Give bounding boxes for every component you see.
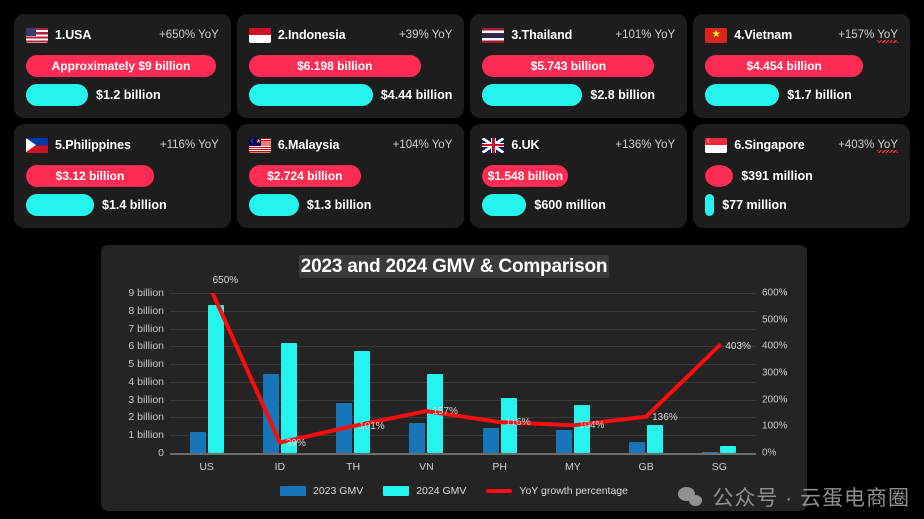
yoy-point-label: 101%	[359, 421, 385, 432]
yoy-point-label: 136%	[652, 412, 678, 423]
flag-vn: ★	[705, 28, 727, 43]
y-axis-tick-left: 7 billion	[94, 323, 164, 335]
gmv-2023-value: $1.2 billion	[96, 88, 161, 102]
legend-item-yoy: YoY growth percentage	[486, 485, 628, 497]
y-axis-tick-left: 4 billion	[94, 376, 164, 388]
yoy-line-layer	[170, 293, 756, 453]
gmv-2023-bar	[26, 84, 88, 106]
legend-swatch-yoy	[486, 489, 512, 493]
country-name: 6.Singapore	[734, 138, 804, 152]
gmv-2023-bar	[705, 84, 779, 106]
yoy-point-label: 650%	[213, 275, 239, 286]
y-axis-tick-right: 0%	[762, 448, 812, 459]
x-axis-tick: SG	[689, 461, 749, 473]
country-card: 1.USA+650% YoYApproximately $9 billion$1…	[14, 14, 231, 118]
card-header: 1.USA+650% YoY	[26, 24, 219, 46]
y-axis-tick-left: 9 billion	[94, 287, 164, 299]
gmv-2024-row: $6.198 billion	[249, 55, 453, 77]
gmv-2024-bar: Approximately $9 billion	[26, 55, 216, 77]
gmv-2024-row: $3.12 billion	[26, 165, 219, 187]
x-axis-tick: US	[177, 461, 237, 473]
chart-grid-area: 650%39%101%157%116%104%136%403% USIDTHVN…	[170, 293, 756, 453]
gmv-2024-bar: $5.743 billion	[482, 55, 654, 77]
country-name: 2.Indonesia	[278, 28, 346, 42]
gmv-2024-row: $5.743 billion	[482, 55, 675, 77]
card-header: ☾6.Singapore+403% YoY	[705, 134, 898, 156]
gmv-2023-value: $77 million	[722, 198, 787, 212]
country-card: ☾★6.Malaysia+104% YoY$2.724 billion$1.3 …	[237, 124, 465, 228]
card-header: 5.Philippines+116% YoY	[26, 134, 219, 156]
yoy-growth-label: +104% YoY	[393, 139, 453, 151]
y-axis-tick-right: 200%	[762, 394, 812, 405]
gmv-2023-value: $4.44 billion	[381, 88, 453, 102]
country-card: 6.UK+136% YoY$1.548 billion$600 million	[470, 124, 687, 228]
legend-swatch-2024	[383, 486, 409, 496]
y-axis-tick-right: 300%	[762, 368, 812, 379]
yoy-growth-label: +403% YoY	[838, 139, 898, 151]
yoy-point-label: 39%	[286, 438, 306, 449]
card-header: 3.Thailand+101% YoY	[482, 24, 675, 46]
gmv-chart-panel: 2023 and 2024 GMV & Comparison 650%39%10…	[101, 245, 807, 511]
gmv-2023-value: $1.4 billion	[102, 198, 167, 212]
y-axis-tick-left: 2 billion	[94, 411, 164, 423]
gmv-2024-value: $5.743 billion	[521, 59, 616, 73]
gmv-2023-value: $2.8 billion	[590, 88, 655, 102]
yoy-point-label: 116%	[506, 417, 531, 428]
gridline	[170, 453, 756, 455]
country-name: 3.Thailand	[511, 28, 572, 42]
legend-item-2023: 2023 GMV	[280, 485, 363, 497]
gmv-2023-row: $1.4 billion	[26, 194, 219, 216]
gmv-2023-row: $1.3 billion	[249, 194, 453, 216]
y-axis-tick-left: 5 billion	[94, 358, 164, 370]
country-name: 4.Vietnam	[734, 28, 792, 42]
x-axis-tick: GB	[616, 461, 676, 473]
gmv-2024-row: $2.724 billion	[249, 165, 453, 187]
country-name: 1.USA	[55, 28, 91, 42]
flag-ph	[26, 138, 48, 153]
country-card: 5.Philippines+116% YoY$3.12 billion$1.4 …	[14, 124, 231, 228]
gmv-2023-row: $4.44 billion	[249, 84, 453, 106]
gmv-2024-row: $1.548 billion	[482, 165, 675, 187]
card-header: ★4.Vietnam+157% YoY	[705, 24, 898, 46]
y-axis-tick-left: 0	[94, 447, 164, 459]
legend-label-2024: 2024 GMV	[416, 485, 466, 497]
yoy-point-label: 403%	[725, 341, 751, 352]
country-name: 6.UK	[511, 138, 539, 152]
flag-sg: ☾	[705, 138, 727, 153]
gmv-2023-row: $77 million	[705, 194, 898, 216]
gmv-2023-row: $1.7 billion	[705, 84, 898, 106]
y-axis-tick-left: 1 billion	[94, 429, 164, 441]
gmv-2023-value: $1.3 billion	[307, 198, 372, 212]
yoy-growth-label: +136% YoY	[615, 139, 675, 151]
chart-legend: 2023 GMV 2024 GMV YoY growth percentage	[101, 485, 807, 497]
chart-plot: 650%39%101%157%116%104%136%403% USIDTHVN…	[101, 289, 807, 511]
gmv-2024-row: Approximately $9 billion	[26, 55, 219, 77]
gmv-2024-bar: $3.12 billion	[26, 165, 154, 187]
yoy-growth-label: +39% YoY	[399, 29, 452, 41]
chart-title-text: 2023 and 2024 GMV & Comparison	[299, 255, 610, 278]
flag-us	[26, 28, 48, 43]
gmv-2024-bar: $4.454 billion	[705, 55, 863, 77]
x-axis-tick: VN	[396, 461, 456, 473]
yoy-growth-label: +157% YoY	[838, 29, 898, 41]
gmv-2024-value: Approximately $9 billion	[42, 59, 201, 73]
country-card: ☾6.Singapore+403% YoY$391 million$77 mil…	[693, 124, 910, 228]
flag-th	[482, 28, 504, 43]
gmv-2023-bar	[705, 194, 714, 216]
legend-label-2023: 2023 GMV	[313, 485, 363, 497]
y-axis-tick-right: 600%	[762, 288, 812, 299]
country-card: 2.Indonesia+39% YoY$6.198 billion$4.44 b…	[237, 14, 465, 118]
y-axis-tick-right: 500%	[762, 314, 812, 325]
card-header: ☾★6.Malaysia+104% YoY	[249, 134, 453, 156]
gmv-2023-row: $2.8 billion	[482, 84, 675, 106]
legend-item-2024: 2024 GMV	[383, 485, 466, 497]
yoy-point-label: 157%	[432, 406, 458, 417]
country-name: 5.Philippines	[55, 138, 131, 152]
country-card: ★4.Vietnam+157% YoY$4.454 billion$1.7 bi…	[693, 14, 910, 118]
gmv-2023-value: $600 million	[534, 198, 606, 212]
gmv-2023-bar	[482, 194, 526, 216]
y-axis-tick-left: 3 billion	[94, 394, 164, 406]
legend-swatch-2023	[280, 486, 306, 496]
chart-title: 2023 and 2024 GMV & Comparison	[101, 245, 807, 278]
gmv-2023-row: $1.2 billion	[26, 84, 219, 106]
gmv-2023-bar	[482, 84, 582, 106]
gmv-2024-row: $4.454 billion	[705, 55, 898, 77]
gmv-2024-value: $6.198 billion	[287, 59, 382, 73]
y-axis-tick-left: 6 billion	[94, 340, 164, 352]
gmv-2024-value: $4.454 billion	[737, 59, 832, 73]
flag-my: ☾★	[249, 138, 271, 153]
yoy-growth-label: +101% YoY	[615, 29, 675, 41]
gmv-2023-bar	[249, 84, 373, 106]
yoy-point-label: 104%	[579, 420, 605, 431]
gmv-2024-value: $391 million	[741, 169, 813, 183]
gmv-2024-bar	[705, 165, 733, 187]
x-axis-tick: TH	[323, 461, 383, 473]
gmv-2023-bar	[26, 194, 94, 216]
x-axis-tick: MY	[543, 461, 603, 473]
card-header: 6.UK+136% YoY	[482, 134, 675, 156]
country-name: 6.Malaysia	[278, 138, 340, 152]
x-axis-tick: PH	[470, 461, 530, 473]
country-card: 3.Thailand+101% YoY$5.743 billion$2.8 bi…	[470, 14, 687, 118]
yoy-growth-label: +116% YoY	[160, 139, 219, 151]
x-axis-tick: ID	[250, 461, 310, 473]
yoy-growth-label: +650% YoY	[159, 29, 219, 41]
gmv-2023-value: $1.7 billion	[787, 88, 852, 102]
gmv-2023-row: $600 million	[482, 194, 675, 216]
gmv-2024-bar: $1.548 billion	[482, 165, 568, 187]
country-cards-grid: 1.USA+650% YoYApproximately $9 billion$1…	[0, 0, 924, 228]
flag-gb	[482, 138, 504, 153]
gmv-2024-row: $391 million	[705, 165, 898, 187]
flag-id	[249, 28, 271, 43]
y-axis-tick-right: 400%	[762, 341, 812, 352]
legend-label-yoy: YoY growth percentage	[519, 485, 628, 497]
card-header: 2.Indonesia+39% YoY	[249, 24, 453, 46]
gmv-2024-bar: $6.198 billion	[249, 55, 421, 77]
y-axis-tick-right: 100%	[762, 421, 812, 432]
gmv-2024-bar: $2.724 billion	[249, 165, 361, 187]
gmv-2024-value: $3.12 billion	[46, 169, 135, 183]
gmv-2024-value: $2.724 billion	[257, 169, 352, 183]
y-axis-tick-left: 8 billion	[94, 305, 164, 317]
gmv-2024-value: $1.548 billion	[478, 169, 573, 183]
gmv-2023-bar	[249, 194, 299, 216]
